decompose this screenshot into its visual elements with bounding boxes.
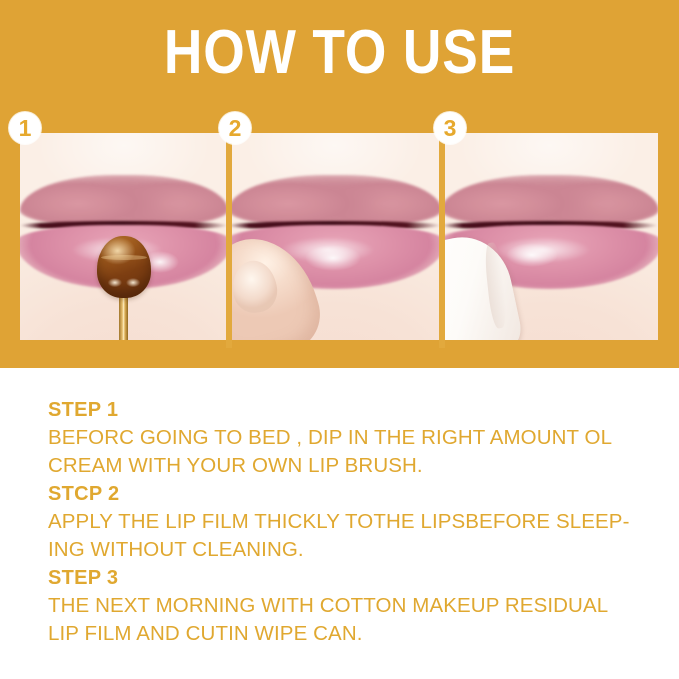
applicator-wand-handle-icon <box>119 291 128 340</box>
step-image-strip <box>20 133 658 340</box>
how-to-use-poster: HOW TO USE <box>0 0 679 679</box>
step-1-heading: STEP 1 <box>48 396 648 424</box>
step-image-2 <box>228 133 441 340</box>
step-badge-1: 1 <box>9 112 41 144</box>
step-2-heading: STCP 2 <box>48 480 648 508</box>
panel-divider-1 <box>226 126 232 348</box>
step-1-body: BEFORC GOING TO BED , DIP IN THE RIGHT A… <box>48 424 648 480</box>
step-image-1 <box>20 133 228 340</box>
step-badge-3: 3 <box>434 112 466 144</box>
instructions-block: STEP 1 BEFORC GOING TO BED , DIP IN THE … <box>48 396 648 648</box>
panel-divider-2 <box>439 126 445 348</box>
step-3-heading: STEP 3 <box>48 564 648 592</box>
step-2-body: APPLY THE LIP FILM THICKLY TOTHE LIPSBEF… <box>48 508 648 564</box>
applicator-wand-icon <box>97 236 151 298</box>
step-image-3 <box>441 133 658 340</box>
page-title: HOW TO USE <box>48 22 632 84</box>
step-badge-2: 2 <box>219 112 251 144</box>
fingernail-icon <box>230 258 280 315</box>
step-3-body: THE NEXT MORNING WITH COTTON MAKEUP RESI… <box>48 592 648 648</box>
